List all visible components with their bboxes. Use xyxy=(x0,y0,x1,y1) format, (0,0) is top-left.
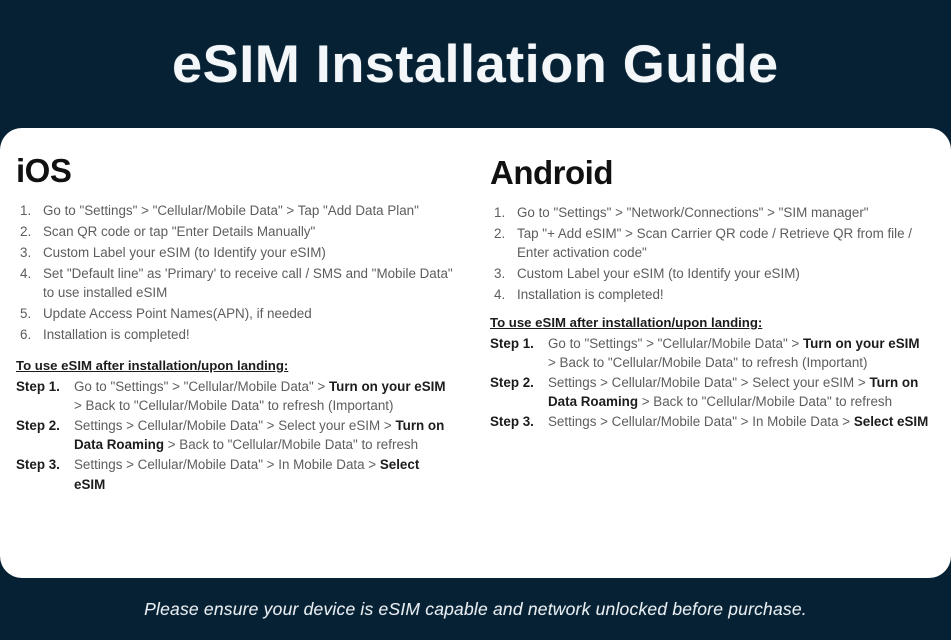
ios-usage-block: To use eSIM after installation/upon land… xyxy=(16,357,454,494)
content-card: iOS Go to "Settings" > "Cellular/Mobile … xyxy=(0,128,951,578)
list-item: Installation is completed! xyxy=(490,285,929,304)
list-item: Go to "Settings" > "Network/Connections"… xyxy=(490,203,929,222)
usage-step-text: Settings > Cellular/Mobile Data" > Selec… xyxy=(548,375,869,390)
usage-step: Step 1.Go to "Settings" > "Cellular/Mobi… xyxy=(16,377,454,415)
usage-step-text: Settings > Cellular/Mobile Data" > In Mo… xyxy=(74,457,380,472)
usage-step-text: Settings > Cellular/Mobile Data" > Selec… xyxy=(74,418,395,433)
usage-step-text: Settings > Cellular/Mobile Data" > In Mo… xyxy=(548,414,854,429)
list-item: Set "Default line" as 'Primary' to recei… xyxy=(16,264,454,302)
android-step-list: Go to "Settings" > "Network/Connections"… xyxy=(490,203,929,304)
list-item: Update Access Point Names(APN), if neede… xyxy=(16,304,454,323)
usage-step-label: Step 1. xyxy=(16,377,60,396)
ios-column: iOS Go to "Settings" > "Cellular/Mobile … xyxy=(0,146,470,495)
poster-footer: Please ensure your device is eSIM capabl… xyxy=(0,578,951,640)
usage-step-label: Step 2. xyxy=(16,416,60,435)
usage-step: Step 2.Settings > Cellular/Mobile Data" … xyxy=(16,416,454,454)
usage-step-emphasis: Select eSIM xyxy=(854,414,928,429)
usage-step: Step 3.Settings > Cellular/Mobile Data" … xyxy=(16,455,454,493)
usage-step-text: > Back to "Cellular/Mobile Data" to refr… xyxy=(638,394,892,409)
usage-step-emphasis: Turn on your eSIM xyxy=(329,379,446,394)
page-title: eSIM Installation Guide xyxy=(172,38,778,91)
usage-step: Step 3.Settings > Cellular/Mobile Data" … xyxy=(490,412,929,431)
usage-step-label: Step 3. xyxy=(490,412,534,431)
android-heading: Android xyxy=(490,156,929,191)
ios-usage-steps: Step 1.Go to "Settings" > "Cellular/Mobi… xyxy=(16,377,454,493)
usage-step-label: Step 3. xyxy=(16,455,60,474)
ios-step-list: Go to "Settings" > "Cellular/Mobile Data… xyxy=(16,201,454,344)
esim-installation-guide-poster: eSIM Installation Guide iOS Go to "Setti… xyxy=(0,0,951,640)
usage-step: Step 2.Settings > Cellular/Mobile Data" … xyxy=(490,373,929,411)
usage-step-text: > Back to "Cellular/Mobile Data" to refr… xyxy=(74,398,393,413)
list-item: Custom Label your eSIM (to Identify your… xyxy=(490,264,929,283)
usage-step-emphasis: Turn on your eSIM xyxy=(803,336,920,351)
usage-step-label: Step 2. xyxy=(490,373,534,392)
ios-heading: iOS xyxy=(16,154,454,189)
list-item: Installation is completed! xyxy=(16,325,454,344)
usage-step-text: > Back to "Cellular/Mobile Data" to refr… xyxy=(548,355,867,370)
list-item: Custom Label your eSIM (to Identify your… xyxy=(16,243,454,262)
usage-step-label: Step 1. xyxy=(490,334,534,353)
list-item: Go to "Settings" > "Cellular/Mobile Data… xyxy=(16,201,454,220)
usage-step-text: Go to "Settings" > "Cellular/Mobile Data… xyxy=(74,379,329,394)
list-item: Tap "+ Add eSIM" > Scan Carrier QR code … xyxy=(490,224,929,262)
list-item: Scan QR code or tap "Enter Details Manua… xyxy=(16,222,454,241)
ios-usage-heading: To use eSIM after installation/upon land… xyxy=(16,357,454,375)
poster-header: eSIM Installation Guide xyxy=(0,0,951,128)
android-usage-heading: To use eSIM after installation/upon land… xyxy=(490,314,929,332)
usage-step: Step 1.Go to "Settings" > "Cellular/Mobi… xyxy=(490,334,929,372)
usage-step-text: > Back to "Cellular/Mobile Data" to refr… xyxy=(164,437,418,452)
footer-note: Please ensure your device is eSIM capabl… xyxy=(144,599,807,620)
android-usage-steps: Step 1.Go to "Settings" > "Cellular/Mobi… xyxy=(490,334,929,431)
android-column: Android Go to "Settings" > "Network/Conn… xyxy=(470,146,951,432)
usage-step-text: Go to "Settings" > "Cellular/Mobile Data… xyxy=(548,336,803,351)
android-usage-block: To use eSIM after installation/upon land… xyxy=(490,314,929,432)
